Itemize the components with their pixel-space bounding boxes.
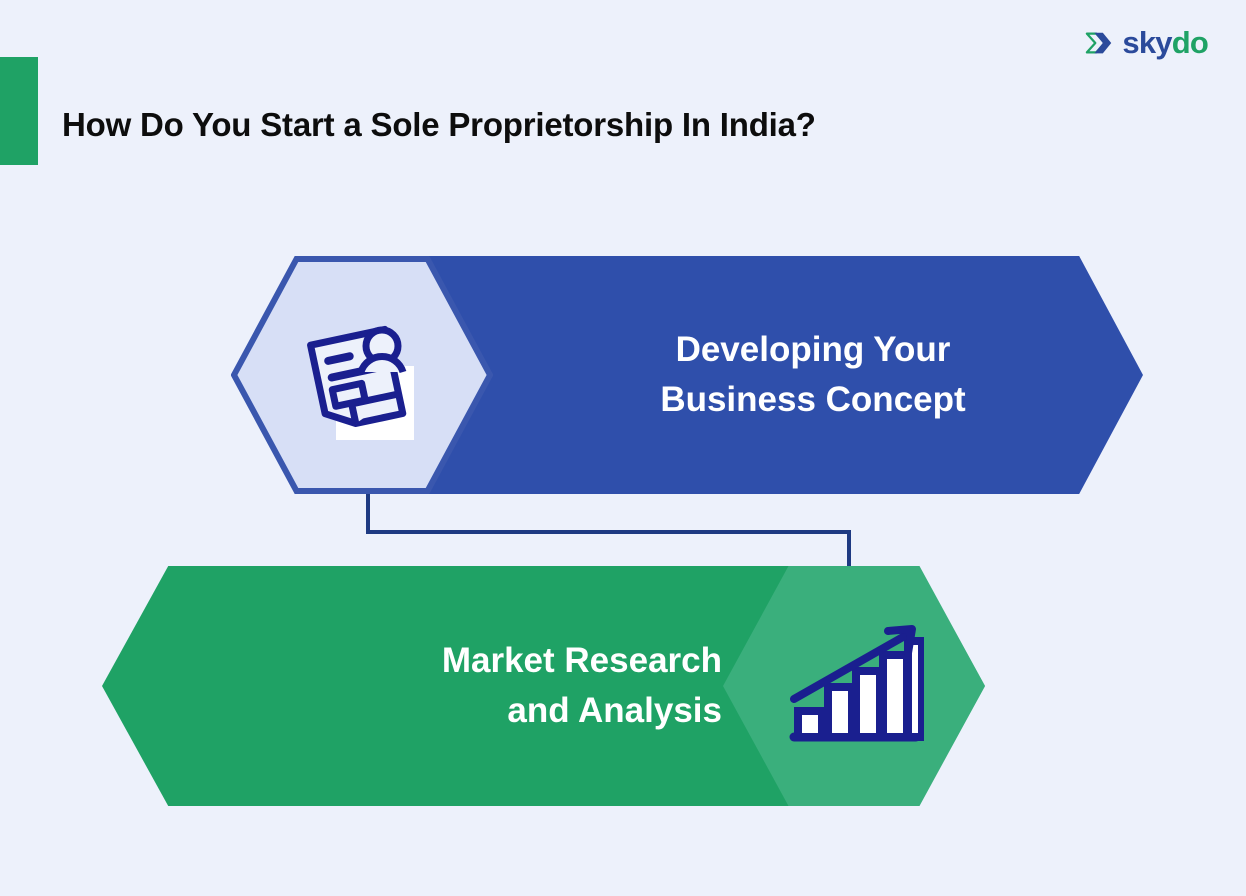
logo-word-do: do — [1172, 25, 1208, 60]
step-1-label-line-2: Business Concept — [603, 375, 1023, 425]
brand-logo: skydo — [1085, 27, 1208, 58]
logo-word-sky: sky — [1122, 25, 1171, 60]
document-person-icon — [302, 310, 422, 440]
page-title: How Do You Start a Sole Proprietorship I… — [62, 106, 816, 144]
step-1-hexagon[interactable] — [231, 256, 493, 494]
step-2-label-line-2: and Analysis — [192, 686, 722, 736]
step-2-label: Market Research and Analysis — [192, 566, 722, 806]
step-2-icon-wrap — [723, 566, 985, 806]
step-1-label-line-1: Developing Your — [603, 325, 1023, 375]
logo-wordmark: skydo — [1122, 27, 1208, 58]
step-2-label-line-1: Market Research — [192, 636, 722, 686]
header-accent-bar — [0, 57, 38, 165]
step-1-icon-wrap — [231, 256, 493, 494]
skydo-chevron-mark-icon — [1085, 28, 1115, 58]
step-1-label: Developing Your Business Concept — [603, 256, 1023, 494]
growth-bar-chart-icon — [784, 621, 924, 751]
step-2-hexagon[interactable] — [723, 566, 985, 806]
